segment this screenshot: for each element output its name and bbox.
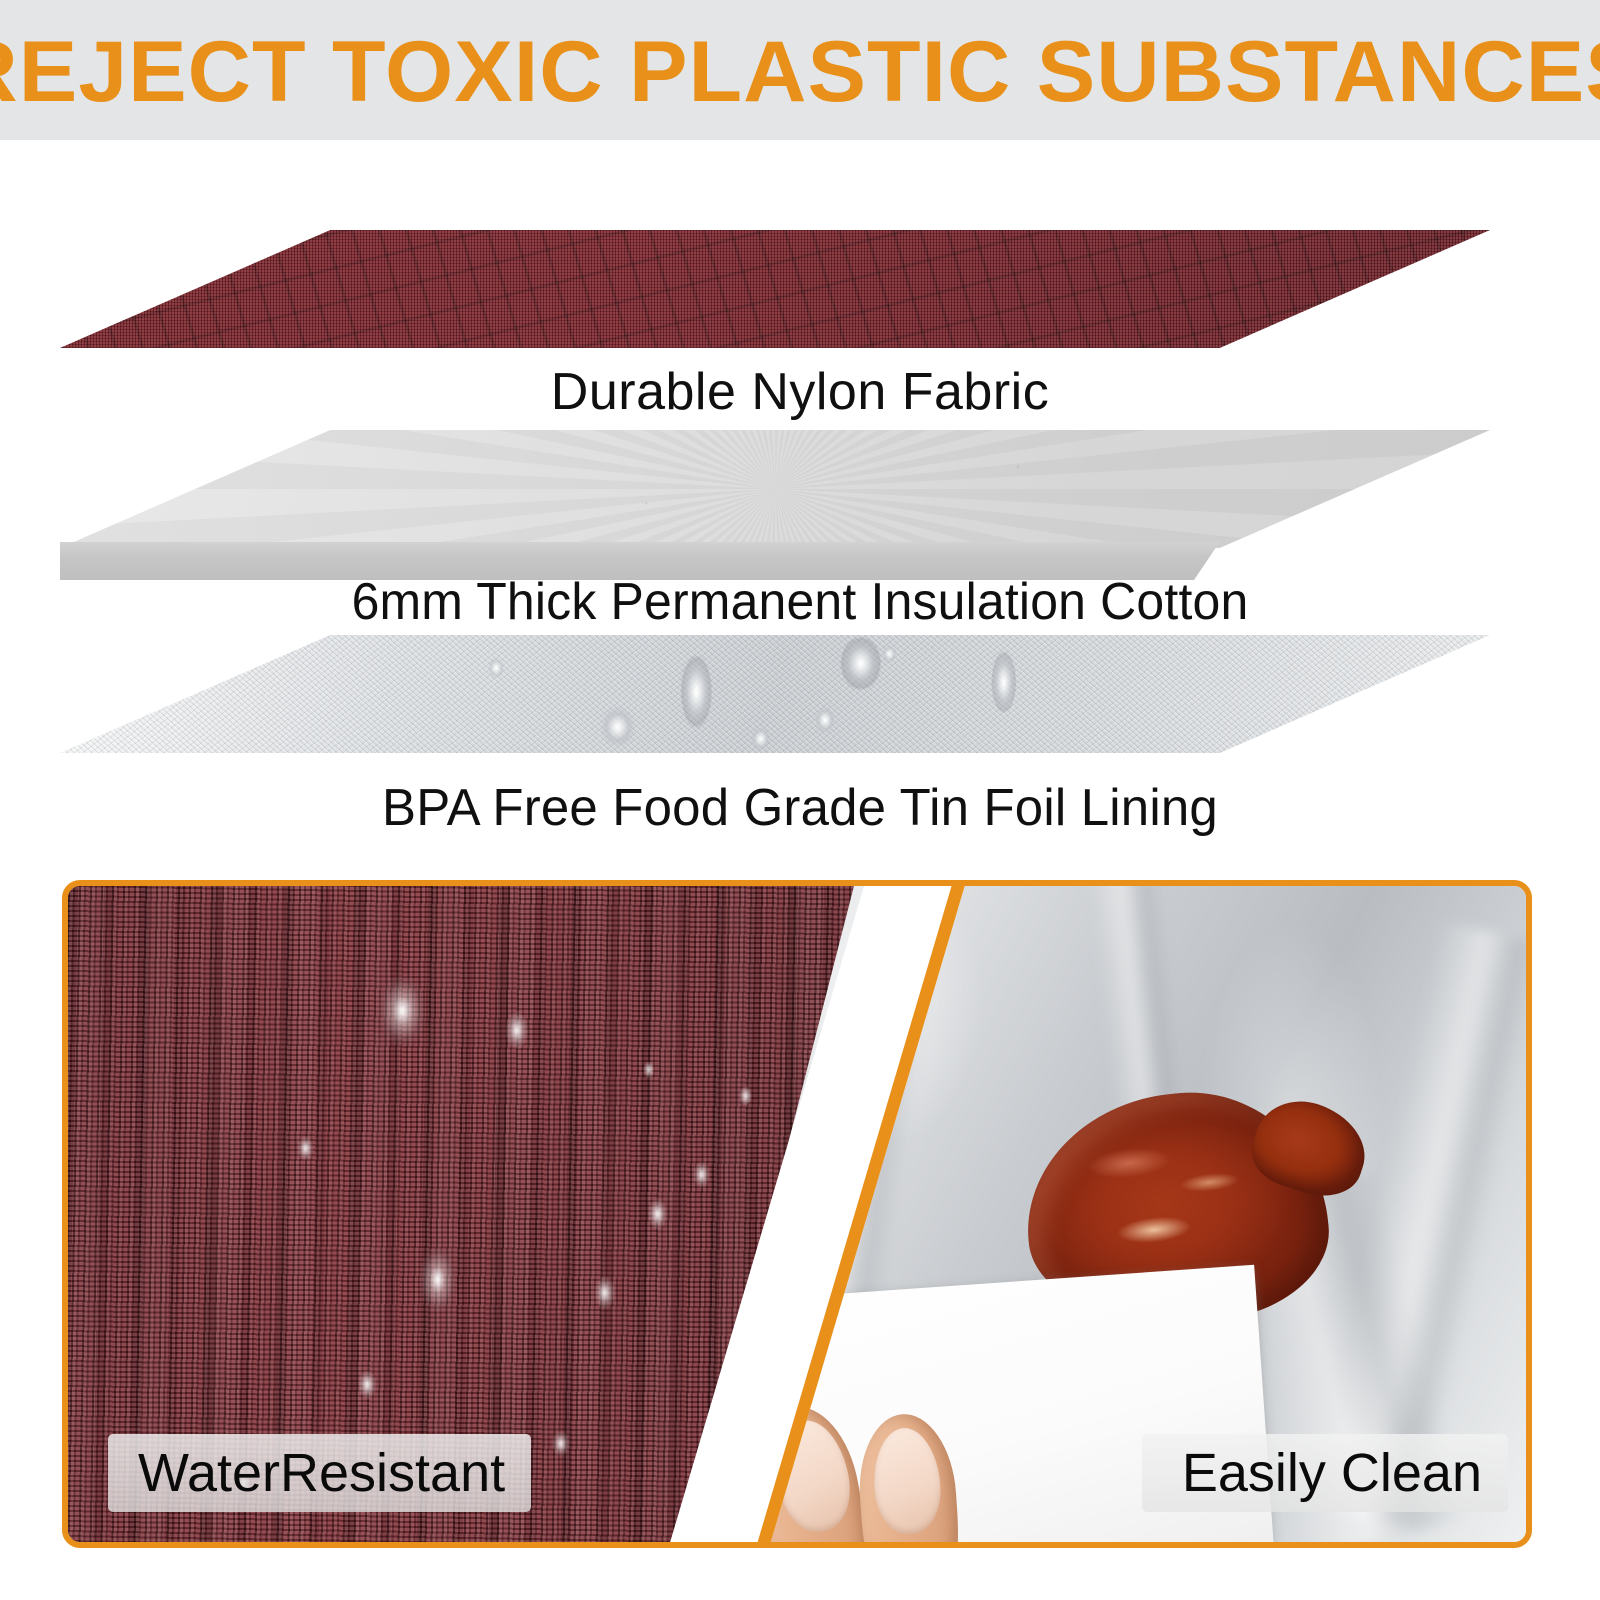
water-resistant-caption: WaterResistant <box>108 1434 531 1512</box>
easily-clean-caption: Easily Clean <box>1142 1434 1508 1512</box>
nylon-texture <box>60 230 1490 348</box>
tin-foil-sheet-icon <box>60 635 1490 753</box>
insulation-foam-slab-icon <box>60 430 1490 580</box>
cotton-top-face <box>60 430 1490 548</box>
foil-texture-with-droplets <box>60 635 1490 753</box>
layer-insulation-label: 6mm Thick Permanent Insulation Cotton <box>32 572 1568 632</box>
nylon-fabric-swatch-icon <box>60 230 1490 348</box>
header-banner: REJECT TOXIC PLASTIC SUBSTANCES <box>0 0 1600 140</box>
layer-foil-label: BPA Free Food Grade Tin Foil Lining <box>16 778 1584 838</box>
page-title: REJECT TOXIC PLASTIC SUBSTANCES <box>0 29 1600 115</box>
feature-photo-panel: WaterResistant Easily Clean <box>62 880 1532 1548</box>
material-layers-diagram: Durable Nylon Fabric 6mm Thick Permanent… <box>0 140 1600 870</box>
layer-nylon-label: Durable Nylon Fabric <box>0 362 1600 422</box>
